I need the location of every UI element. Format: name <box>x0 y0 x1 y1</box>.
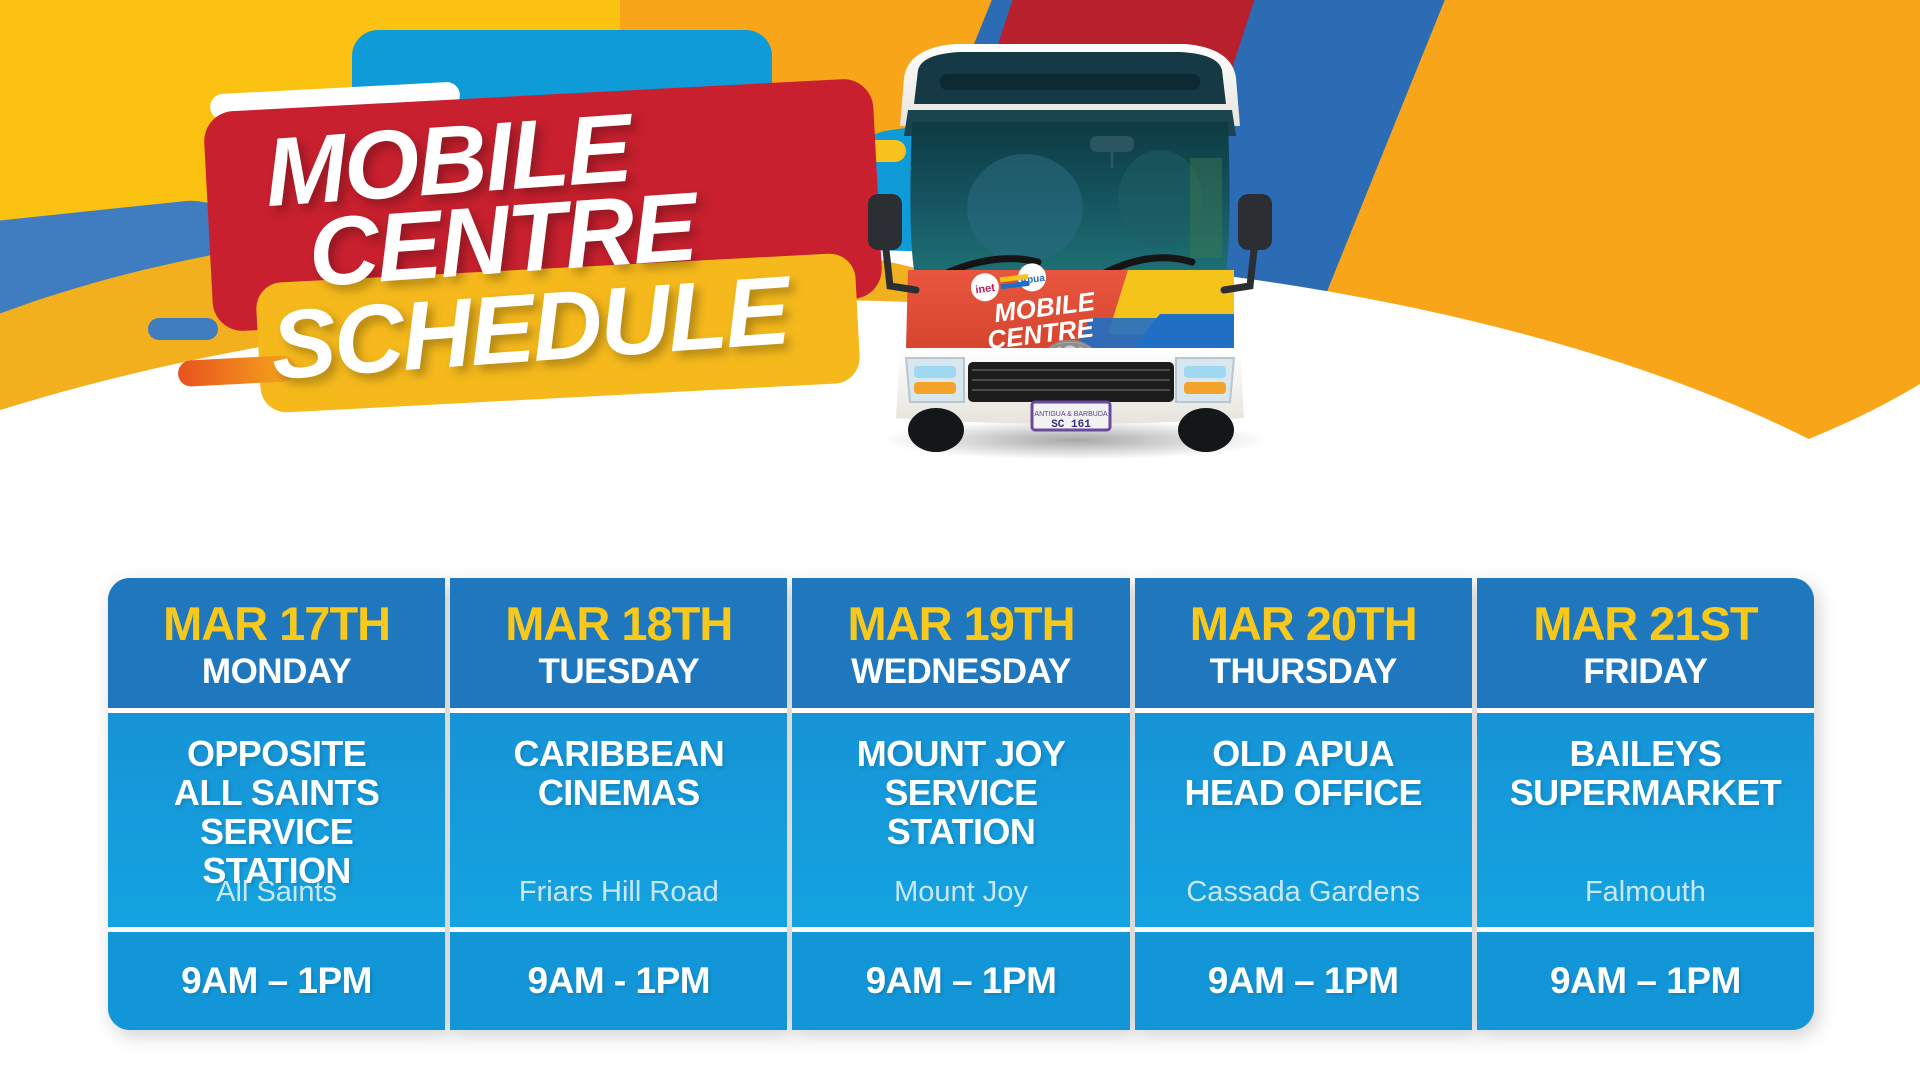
location-name: BAILEYSSUPERMARKET <box>1510 735 1781 813</box>
schedule-table: MAR 17THMONDAYOPPOSITEALL SAINTSSERVICES… <box>108 578 1814 1030</box>
time-value: 9AM – 1PM <box>1208 960 1399 1002</box>
plate-country-text: ANTIGUA & BARBUDA <box>1034 411 1107 418</box>
date-value: MAR 20TH <box>1190 600 1417 647</box>
date-cell: MAR 21STFRIDAY <box>1477 578 1814 708</box>
location-name: CARIBBEANCINEMAS <box>514 735 725 813</box>
date-cell: MAR 19THWEDNESDAY <box>792 578 1129 708</box>
location-name: OLD APUAHEAD OFFICE <box>1185 735 1422 813</box>
location-area: Falmouth <box>1477 877 1814 909</box>
schedule-column: MAR 17THMONDAYOPPOSITEALL SAINTSSERVICES… <box>108 578 445 1030</box>
date-value: MAR 19TH <box>847 600 1074 647</box>
date-value: MAR 18TH <box>505 600 732 647</box>
date-value: MAR 21ST <box>1533 600 1757 647</box>
mobile-centre-bus-image: inet Apua MOBILE CENTRE ANTIGUA & BA <box>860 18 1280 458</box>
date-cell: MAR 20THTHURSDAY <box>1135 578 1472 708</box>
time-cell: 9AM – 1PM <box>1135 932 1472 1030</box>
svg-text:inet: inet <box>975 282 996 296</box>
time-value: 9AM - 1PM <box>528 960 711 1002</box>
location-area: Mount Joy <box>792 877 1129 909</box>
location-cell: CARIBBEANCINEMASFriars Hill Road <box>450 713 787 927</box>
day-value: FRIDAY <box>1583 652 1707 692</box>
schedule-column: MAR 19THWEDNESDAYMOUNT JOYSERVICESTATION… <box>792 578 1129 1030</box>
location-cell: MOUNT JOYSERVICESTATIONMount Joy <box>792 713 1129 927</box>
date-value: MAR 17TH <box>163 600 390 647</box>
location-cell: OLD APUAHEAD OFFICECassada Gardens <box>1135 713 1472 927</box>
location-area: Cassada Gardens <box>1135 877 1472 909</box>
location-cell: BAILEYSSUPERMARKETFalmouth <box>1477 713 1814 927</box>
location-area: Friars Hill Road <box>450 877 787 909</box>
day-value: THURSDAY <box>1210 652 1397 692</box>
decor-blue-dash <box>148 318 218 340</box>
time-value: 9AM – 1PM <box>181 960 372 1002</box>
time-cell: 9AM - 1PM <box>450 932 787 1030</box>
time-cell: 9AM – 1PM <box>108 932 445 1030</box>
location-name: MOUNT JOYSERVICESTATION <box>857 735 1066 852</box>
schedule-column: MAR 20THTHURSDAYOLD APUAHEAD OFFICECassa… <box>1135 578 1472 1030</box>
day-value: WEDNESDAY <box>851 652 1071 692</box>
location-cell: OPPOSITEALL SAINTSSERVICESTATIONAll Sain… <box>108 713 445 927</box>
schedule-column: MAR 18THTUESDAYCARIBBEANCINEMASFriars Hi… <box>450 578 787 1030</box>
day-value: MONDAY <box>202 652 351 692</box>
plate-number-text: SC 161 <box>1051 419 1091 431</box>
time-value: 9AM – 1PM <box>1550 960 1741 1002</box>
time-value: 9AM – 1PM <box>866 960 1057 1002</box>
date-cell: MAR 18THTUESDAY <box>450 578 787 708</box>
date-cell: MAR 17THMONDAY <box>108 578 445 708</box>
location-name: OPPOSITEALL SAINTSSERVICESTATION <box>174 735 379 891</box>
day-value: TUESDAY <box>539 652 700 692</box>
location-area: All Saints <box>108 877 445 909</box>
page-title: MOBILE CENTRE SCHEDULE <box>240 84 959 432</box>
time-cell: 9AM – 1PM <box>792 932 1129 1030</box>
schedule-column: MAR 21STFRIDAYBAILEYSSUPERMARKETFalmouth… <box>1477 578 1814 1030</box>
time-cell: 9AM – 1PM <box>1477 932 1814 1030</box>
